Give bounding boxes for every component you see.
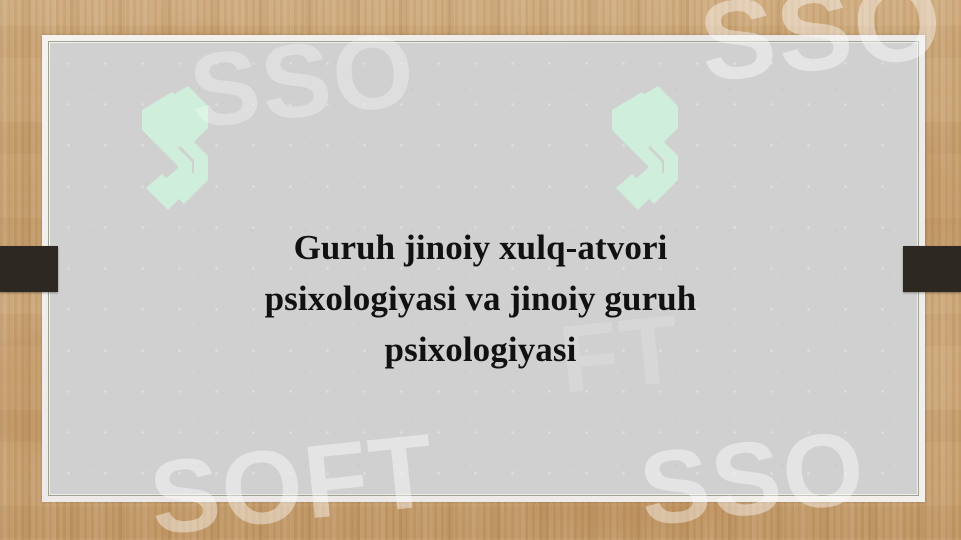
slide-stage: SSO SSO SOFT SSO FT Guruh jinoiy xulq-at…: [0, 0, 961, 540]
title-line-1: Guruh jinoiy xulq-atvori: [110, 222, 851, 273]
accent-bar-left: [0, 246, 58, 292]
title-line-2: psixologiyasi va jinoiy guruh: [110, 273, 851, 324]
accent-bar-right: [903, 246, 961, 292]
title-line-3: psixologiyasi: [110, 324, 851, 375]
slide-title: Guruh jinoiy xulq-atvori psixologiyasi v…: [110, 222, 851, 375]
